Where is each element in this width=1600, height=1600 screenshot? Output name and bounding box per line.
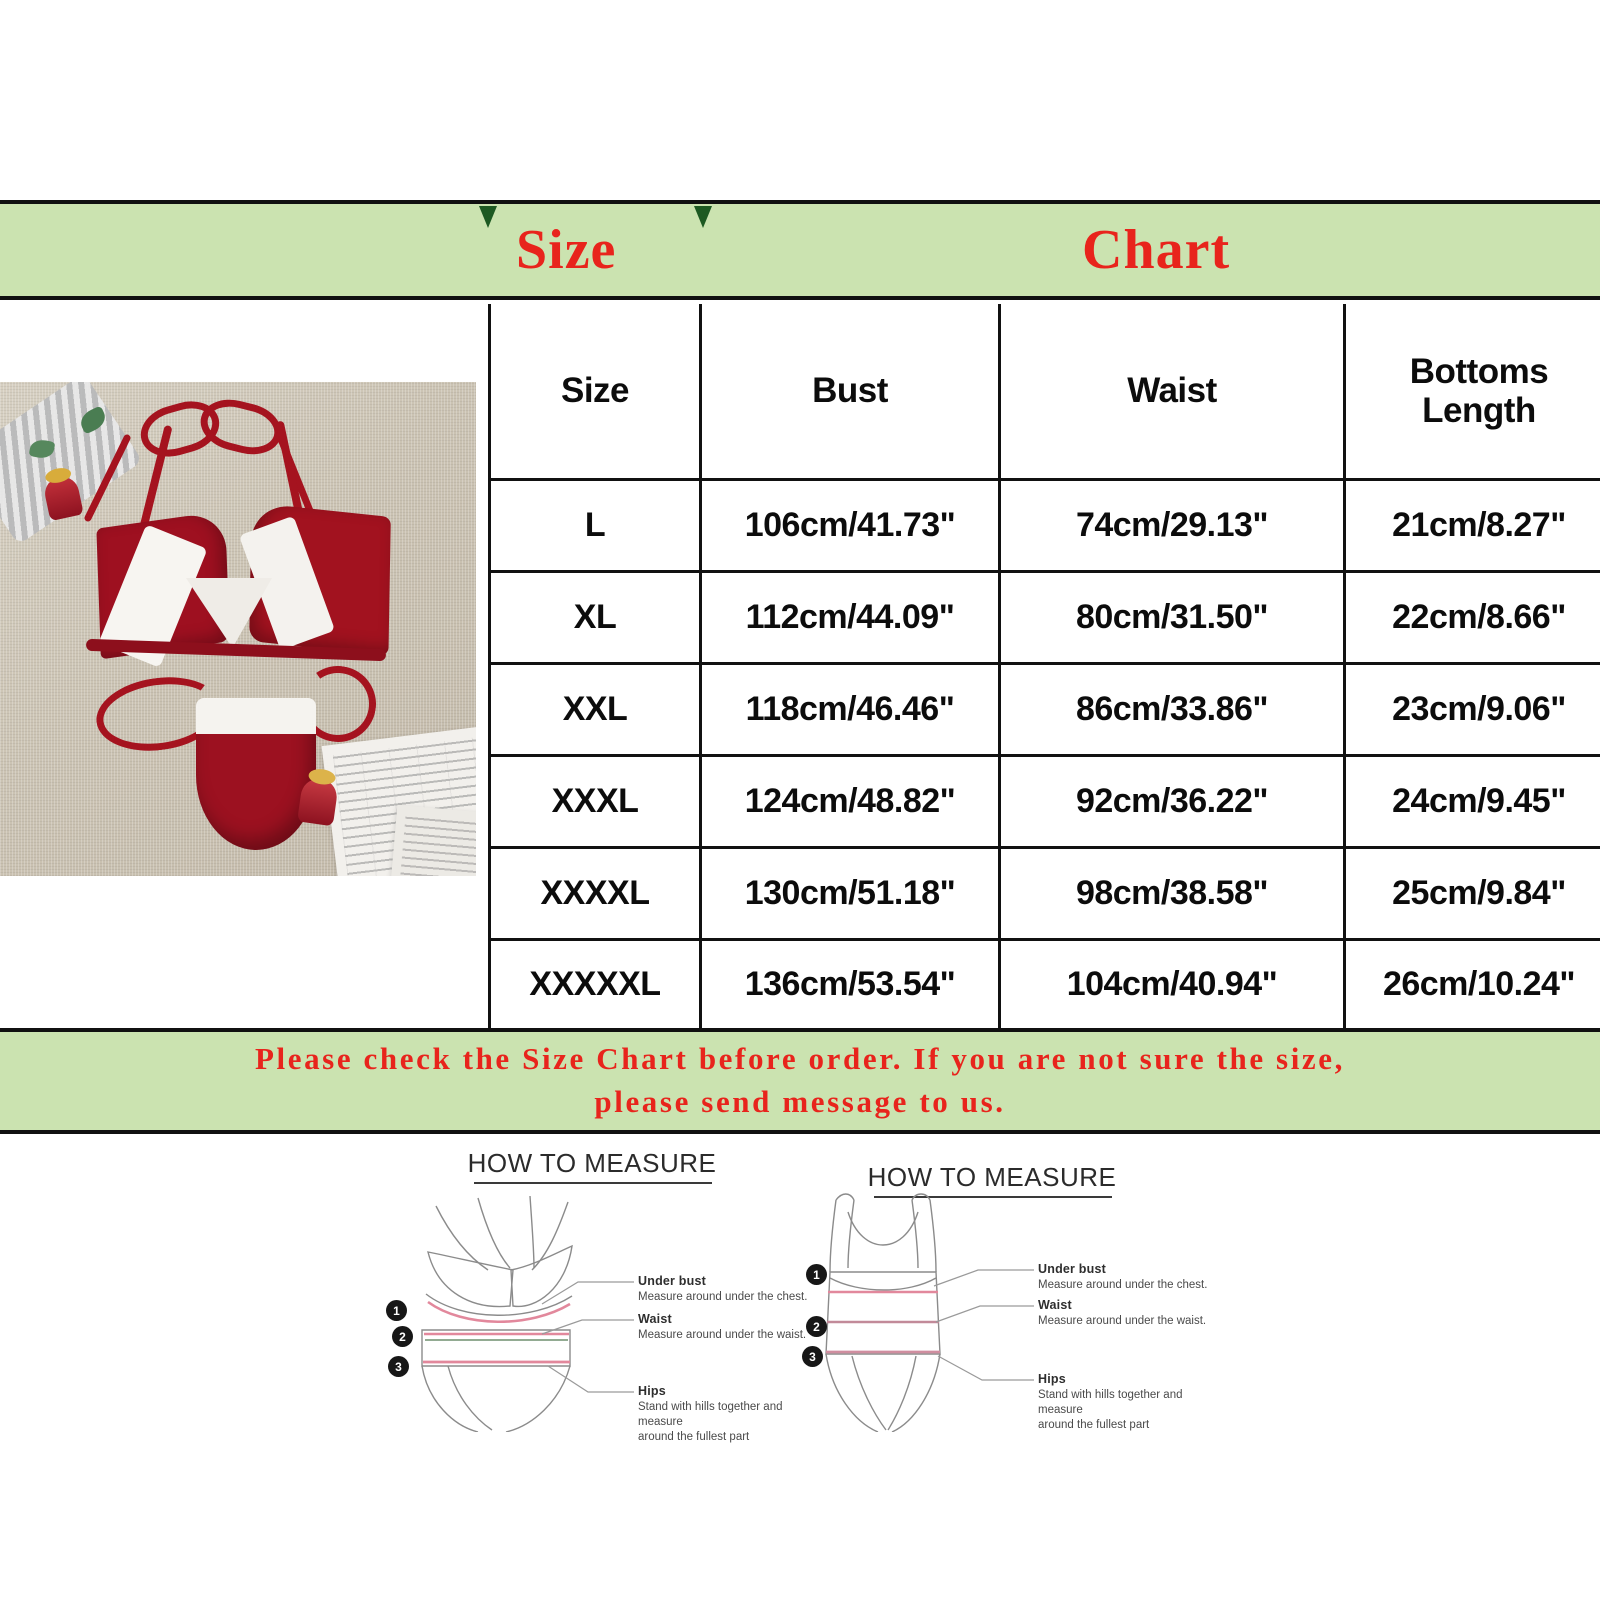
size-chart-page: Size Chart [0,0,1600,1600]
measure-label-hips: Hips [1038,1372,1214,1386]
measure-marker-1: 1 [386,1300,407,1321]
measure-label-waist: Waist [1038,1298,1218,1312]
measure-desc-hips-line2: around the fullest part [1038,1418,1214,1433]
christmas-bell-ornament [297,778,339,827]
how-to-measure-area: HOW TO MEASURE [0,1134,1600,1432]
measure-marker-3: 3 [802,1346,823,1367]
cell-size: XXXXXL [490,939,701,1028]
page-title-chart: Chart [1082,222,1230,278]
cell-waist: 92cm/36.22" [1000,755,1345,847]
measure-desc-hips-line2: around the fullest part [638,1430,814,1445]
green-triangle-marker-icon [694,206,712,228]
page-title-size: Size [516,222,616,278]
measure-marker-2: 2 [392,1326,413,1347]
how-to-measure-bikini: HOW TO MEASURE [382,1134,802,1432]
notice-line-1: Please check the Size Chart before order… [255,1038,1345,1081]
measure-desc-under-bust: Measure around under the chest. [1038,1278,1218,1293]
table-row: L 106cm/41.73" 74cm/29.13" 21cm/8.27" [490,479,1600,571]
notice-line-2: please send message to us. [594,1081,1005,1124]
how-to-measure-onepiece: HOW TO MEASURE [782,1134,1202,1432]
size-notice-band: Please check the Size Chart before order… [0,1028,1600,1134]
measure-desc-waist: Measure around under the waist. [1038,1314,1218,1329]
cell-bottoms: 26cm/10.24" [1345,939,1600,1028]
cell-size: L [490,479,701,571]
cell-bust: 112cm/44.09" [701,571,1000,663]
column-header-bottoms-length: Bottoms Length [1345,304,1600,479]
cell-bust: 106cm/41.73" [701,479,1000,571]
column-header-bottoms-line2: Length [1422,391,1536,430]
table-row: XXXXXL 136cm/53.54" 104cm/40.94" 26cm/10… [490,939,1600,1028]
size-chart-card: Size Chart [0,200,1600,1432]
cell-waist: 98cm/38.58" [1000,847,1345,939]
cell-waist: 80cm/31.50" [1000,571,1345,663]
bikini-bottom-white-waistband [196,698,316,734]
cell-bottoms: 21cm/8.27" [1345,479,1600,571]
product-photo [0,382,476,876]
table-header-row: Size Bust Waist Bottoms Length [490,304,1600,479]
cell-bust: 130cm/51.18" [701,847,1000,939]
table-row: XXXXL 130cm/51.18" 98cm/38.58" 25cm/9.84… [490,847,1600,939]
green-triangle-marker-icon [479,206,497,228]
size-table: Size Bust Waist Bottoms Length L 106cm/4… [488,304,1600,1028]
product-photo-pane [0,304,488,1028]
cell-bottoms: 23cm/9.06" [1345,663,1600,755]
size-table-wrapper: Size Bust Waist Bottoms Length L 106cm/4… [488,304,1600,1028]
measure-marker-3: 3 [388,1356,409,1377]
measure-item-waist: Waist Measure around under the waist. [1038,1298,1218,1329]
cell-size: XXXL [490,755,701,847]
cell-bust: 118cm/46.46" [701,663,1000,755]
newspaper-prop [387,805,476,876]
measure-label-under-bust: Under bust [1038,1262,1218,1276]
column-header-bust: Bust [701,304,1000,479]
column-header-size: Size [490,304,701,479]
cell-bottoms: 24cm/9.45" [1345,755,1600,847]
column-header-bottoms-line1: Bottoms [1410,352,1548,391]
cell-waist: 74cm/29.13" [1000,479,1345,571]
cell-bottoms: 25cm/9.84" [1345,847,1600,939]
measure-desc-hips-line1: Stand with hills together and measure [1038,1388,1214,1418]
cell-waist: 86cm/33.86" [1000,663,1345,755]
measure-item-under-bust: Under bust Measure around under the ches… [1038,1262,1218,1293]
cell-bust: 124cm/48.82" [701,755,1000,847]
cell-size: XXXXL [490,847,701,939]
cell-waist: 104cm/40.94" [1000,939,1345,1028]
column-header-waist: Waist [1000,304,1345,479]
table-row: XL 112cm/44.09" 80cm/31.50" 22cm/8.66" [490,571,1600,663]
measure-item-hips: Hips Stand with hills together and measu… [1038,1372,1214,1434]
cell-size: XXL [490,663,701,755]
measure-marker-1: 1 [806,1264,827,1285]
cell-bust: 136cm/53.54" [701,939,1000,1028]
cell-bottoms: 22cm/8.66" [1345,571,1600,663]
cell-size: XL [490,571,701,663]
title-band: Size Chart [0,204,1600,300]
measure-marker-2: 2 [806,1316,827,1337]
table-row: XXL 118cm/46.46" 86cm/33.86" 23cm/9.06" [490,663,1600,755]
table-row: XXXL 124cm/48.82" 92cm/36.22" 24cm/9.45" [490,755,1600,847]
